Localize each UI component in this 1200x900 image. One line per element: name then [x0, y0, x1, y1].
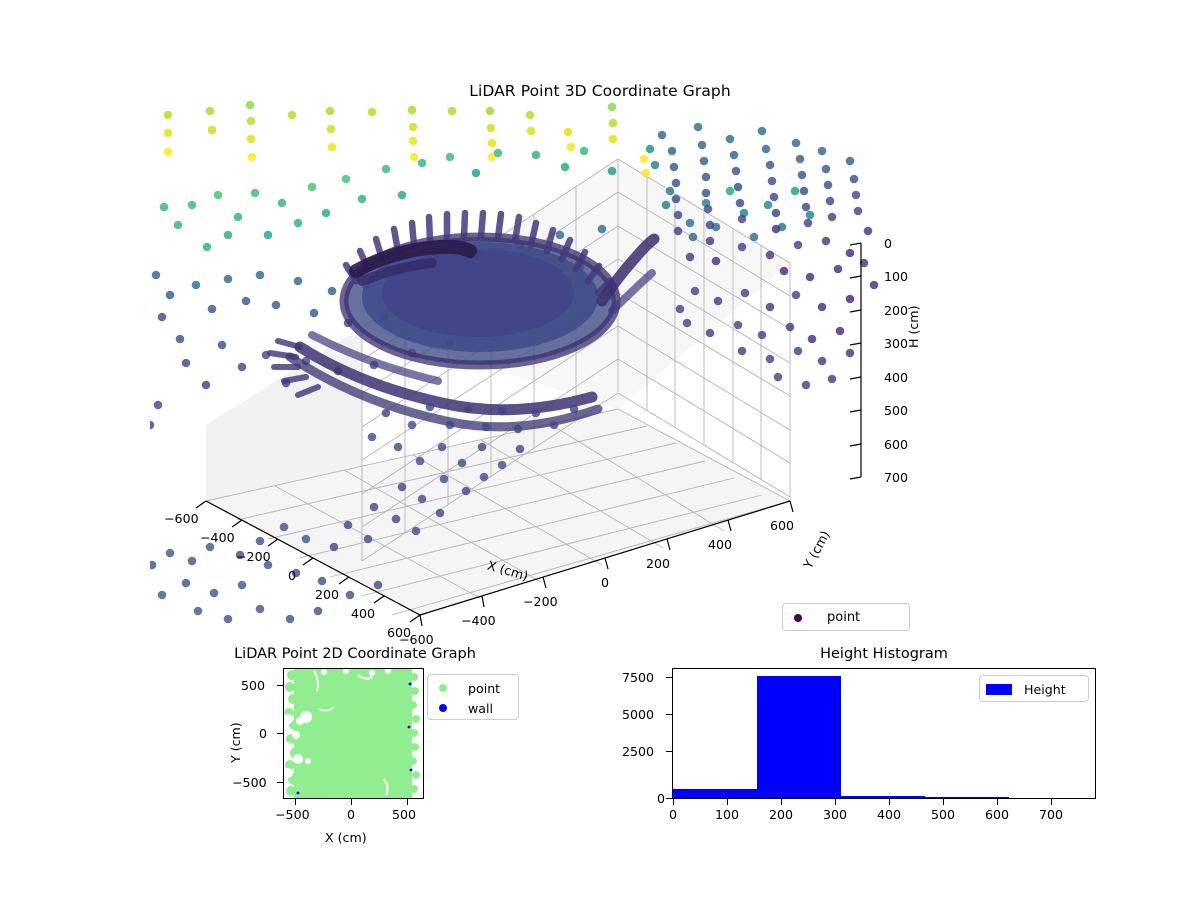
histogram-xtick-5: 500: [931, 807, 955, 822]
histogram-xtickmark-2: [781, 799, 782, 805]
plot2d-ylabel: Y (cm): [228, 722, 243, 763]
plot3d-xtick-2: −200: [236, 549, 271, 564]
histogram-xtick-7: 700: [1039, 807, 1063, 822]
plot2d-canvas: [284, 669, 423, 798]
plot2d-xtick-2: 500: [392, 807, 416, 822]
plot3d-ztick-4: 400: [884, 370, 908, 385]
plot3d-xtick-1: −400: [200, 530, 235, 545]
histogram-bar-1: [757, 676, 841, 798]
plot3d-ztick-3: 300: [884, 336, 908, 351]
histogram-xtickmark-0: [673, 799, 674, 805]
legend-label-height: Height: [1018, 682, 1076, 697]
plot2d-ytick-1: 0: [259, 726, 267, 741]
histogram-bar-4: [1009, 798, 1095, 799]
legend-entry-point-2d[interactable]: point: [428, 678, 518, 698]
histogram-xtick-1: 100: [715, 807, 739, 822]
legend-label-wall: wall: [458, 701, 503, 716]
plot3d-ytick-6: 600: [770, 518, 794, 533]
legend-entry-height[interactable]: Height: [980, 679, 1088, 699]
histogram-ytick-1: 2500: [622, 744, 654, 759]
plot3d-xtick-0: −600: [164, 511, 199, 526]
histogram-ytickmark-0: [666, 798, 672, 799]
plot3d-ztick-0: 0: [884, 236, 892, 251]
plot3d-zlabel: H (cm): [906, 306, 921, 349]
plot3d-ytick-2: −200: [523, 594, 558, 609]
histogram-xtickmark-1: [727, 799, 728, 805]
plot2d-xtickmark-0: [295, 799, 296, 805]
scatter-high-yellow: [164, 101, 651, 178]
legend-label-point-2d: point: [458, 681, 510, 696]
histogram-ytickmark-3: [666, 677, 672, 678]
plot2d-axes[interactable]: [283, 668, 424, 799]
point-cloud-green: [284, 669, 420, 798]
plot2d-xtick-0: −500: [275, 807, 310, 822]
plot2d-ytickmark-0: [277, 685, 283, 686]
legend-marker-wall-icon: [428, 704, 458, 712]
plot3d-ytick-4: 200: [646, 556, 670, 571]
plot2d-legend[interactable]: point wall: [427, 674, 519, 720]
plot3d-ytick-0: −600: [399, 632, 434, 647]
histogram-legend[interactable]: Height: [979, 675, 1089, 702]
plot3d-ztick-1: 100: [884, 269, 908, 284]
histogram-ytick-0: 0: [657, 791, 665, 806]
plot3d-xtick-3: 0: [288, 568, 296, 583]
histogram-bar-3: [925, 797, 1009, 798]
matplotlib-figure: LiDAR Point 3D Coordinate Graph: [0, 0, 1200, 900]
histogram-xtick-2: 200: [769, 807, 793, 822]
histogram-ytick-3: 7500: [622, 670, 654, 685]
histogram-ytick-2: 5000: [622, 707, 654, 722]
plot3d-xtick-5: 400: [351, 606, 375, 621]
legend-marker-point-icon-2d: [428, 684, 458, 692]
plot3d-ztick-2: 200: [884, 303, 908, 318]
ztick-marks: [850, 243, 861, 479]
plot2d-ytickmark-2: [277, 782, 283, 783]
plot3d-ytick-1: −400: [461, 613, 496, 628]
legend-entry-wall-2d[interactable]: wall: [428, 698, 518, 718]
plot2d-xtick-1: 0: [347, 807, 355, 822]
legend-label-point: point: [813, 610, 870, 625]
plot3d-ztick-5: 500: [884, 403, 908, 418]
histogram-xtick-4: 400: [877, 807, 901, 822]
plot3d-ytick-5: 400: [708, 537, 732, 552]
legend-entry-point[interactable]: point: [783, 607, 909, 628]
plot3d-ztick-7: 700: [884, 470, 908, 485]
histogram-xtick-3: 300: [823, 807, 847, 822]
plot2d-xtickmark-2: [407, 799, 408, 805]
legend-marker-height-icon: [980, 684, 1018, 695]
plot3d-ztick-6: 600: [884, 437, 908, 452]
histogram-xtickmark-4: [889, 799, 890, 805]
histogram-ytickmark-1: [666, 751, 672, 752]
histogram-xtickmark-7: [1051, 799, 1052, 805]
plot2d-ytickmark-1: [277, 733, 283, 734]
histogram-xtickmark-3: [835, 799, 836, 805]
plot2d-xtickmark-1: [351, 799, 352, 805]
histogram-title: Height Histogram: [734, 646, 1034, 662]
histogram-bar-2: [841, 796, 925, 798]
plot3d-xtick-4: 200: [315, 587, 339, 602]
plot3d-ytick-3: 0: [601, 575, 609, 590]
plot2d-ytick-0: 500: [241, 678, 265, 693]
histogram-xtick-6: 600: [985, 807, 1009, 822]
histogram-xtick-0: 0: [669, 807, 677, 822]
plot2d-xlabel: X (cm): [325, 830, 367, 845]
histogram-bar-0: [673, 789, 757, 798]
histogram-xtickmark-6: [997, 799, 998, 805]
histogram-xtickmark-5: [943, 799, 944, 805]
plot2d-ytick-2: −500: [232, 775, 267, 790]
histogram-ytickmark-2: [666, 714, 672, 715]
legend-marker-point-icon: [783, 614, 813, 622]
plot2d-title: LiDAR Point 2D Coordinate Graph: [205, 646, 505, 662]
plot3d-legend[interactable]: point: [782, 603, 910, 631]
